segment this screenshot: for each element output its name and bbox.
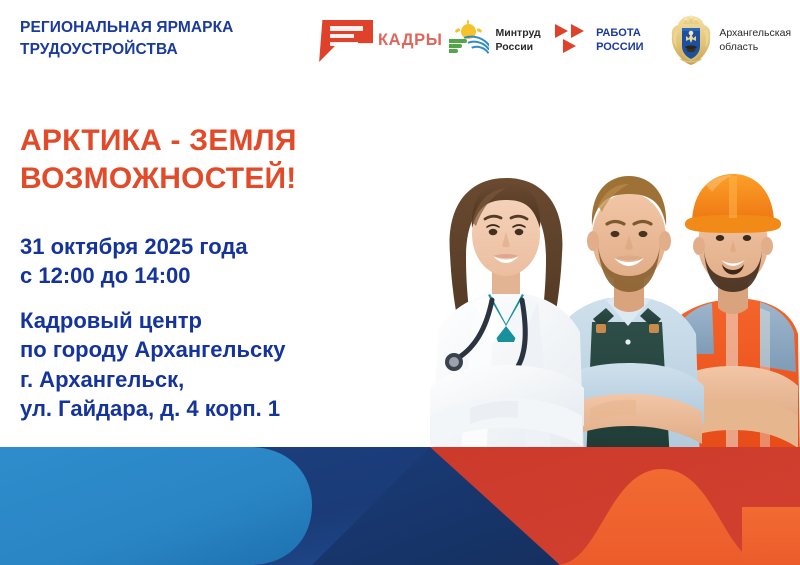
event-time: с 12:00 до 14:00 (20, 261, 440, 290)
coat-of-arms-icon (670, 14, 712, 66)
field-band-2 (449, 44, 462, 48)
event-datetime: 31 октября 2025 года с 12:00 до 14:00 (20, 232, 440, 290)
workers-photo (430, 86, 800, 461)
region-line1: Архангельская (719, 26, 791, 40)
headline-line1: АРКТИКА - ЗЕМЛЯ (20, 124, 297, 157)
flag-line-1 (330, 26, 363, 31)
rabota-line1: РАБОТА (596, 26, 643, 40)
flag-text-lines (330, 26, 363, 46)
page-title-line1: РЕГИОНАЛЬНАЯ ЯРМАРКА (20, 19, 233, 36)
band-orange-corner (742, 507, 800, 565)
event-date: 31 октября 2025 года (20, 234, 248, 259)
natsproekty-flag-icon (318, 17, 373, 63)
page-title: РЕГИОНАЛЬНАЯ ЯРМАРКА ТРУДОУСТРОЙСТВА (20, 17, 320, 61)
kadry-wordmark: КАДРЫ (378, 31, 443, 50)
band-blue-lobe (0, 447, 312, 565)
logo-rabota-rossii: РАБОТА РОССИИ (555, 14, 662, 66)
mintrud-line1: Минтруд (496, 26, 541, 40)
rabota-line2: РОССИИ (596, 40, 643, 54)
venue-street: ул. Гайдара, д. 4 корп. 1 (20, 394, 450, 423)
rabota-triangles-icon (555, 24, 589, 56)
sun-ray-right (476, 28, 482, 33)
poster: РЕГИОНАЛЬНАЯ ЯРМАРКА ТРУДОУСТРОЙСТВА КАД… (0, 0, 800, 565)
region-wordmark: Архангельская область (719, 26, 791, 54)
flag-line-2 (330, 34, 354, 39)
logo-mintrud: Минтруд России (449, 14, 550, 66)
mintrud-emblem-icon (449, 20, 489, 60)
logo-arkhangelsk-region: Архангельская область (670, 12, 796, 68)
venue-city: г. Архангельск, (20, 365, 450, 394)
triangle-1 (555, 24, 568, 38)
field-band-3 (449, 49, 458, 53)
page-title-line2: ТРУДОУСТРОЙСТВА (20, 39, 320, 61)
region-line2: область (719, 40, 791, 54)
flag-line-3 (330, 42, 358, 47)
mintrud-line2: России (496, 40, 541, 54)
venue-org-line2: по городу Архангельску (20, 335, 450, 364)
headline-line2: ВОЗМОЖНОСТЕЙ! (20, 160, 420, 198)
logo-strip: КАДРЫ Минтруд России (318, 8, 796, 72)
sun-ray-left (454, 28, 460, 33)
triangle-2 (571, 24, 584, 38)
field-band-1 (449, 39, 467, 43)
decorative-band (0, 447, 800, 565)
poster-header: РЕГИОНАЛЬНАЯ ЯРМАРКА ТРУДОУСТРОЙСТВА КАД… (0, 0, 800, 82)
event-venue: Кадровый центр по городу Архангельску г.… (20, 306, 450, 423)
rabota-wordmark: РАБОТА РОССИИ (596, 26, 643, 55)
logo-natsproekty-kadry: КАДРЫ (318, 14, 443, 66)
venue-org-line1: Кадровый центр (20, 306, 450, 335)
triangle-3 (563, 39, 576, 53)
person-doctor (430, 178, 584, 461)
mintrud-wordmark: Минтруд России (496, 26, 541, 54)
headline: АРКТИКА - ЗЕМЛЯ ВОЗМОЖНОСТЕЙ! (20, 122, 420, 197)
